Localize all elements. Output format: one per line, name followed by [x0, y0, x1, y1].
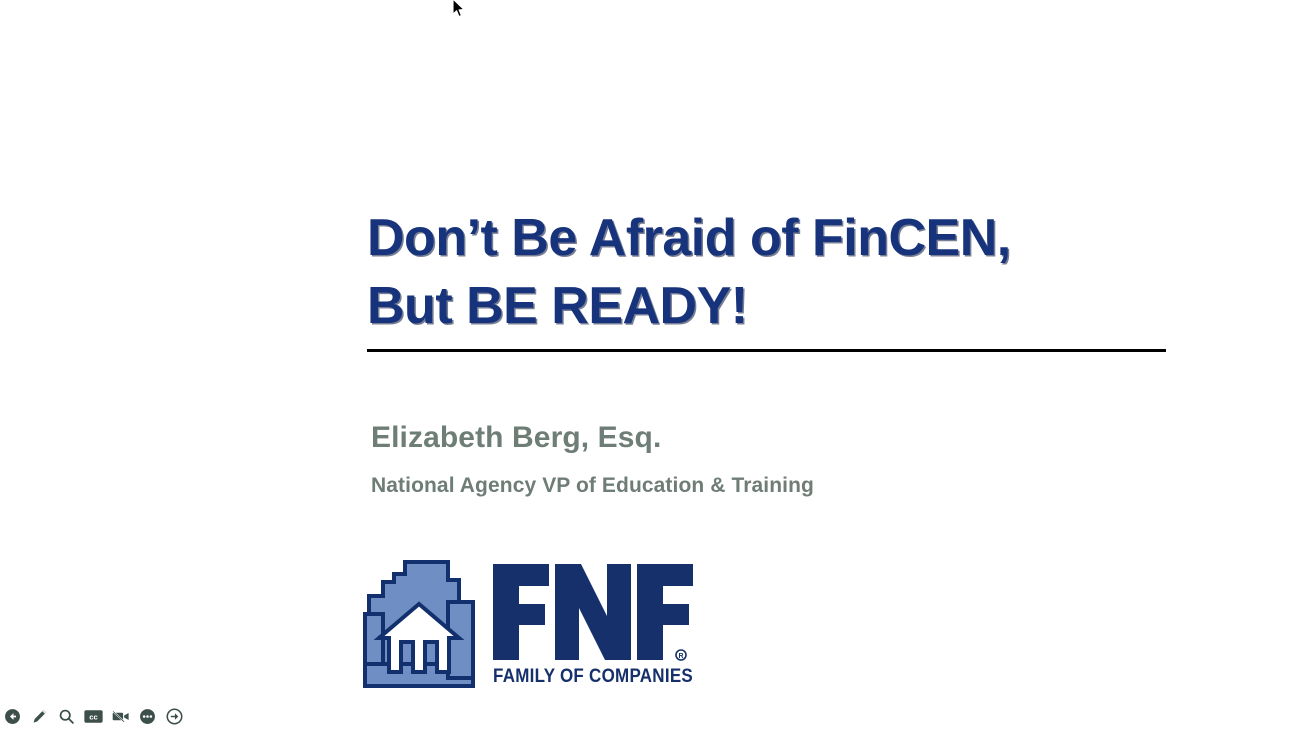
slide-canvas: Don’t Be Afraid of FinCEN, But BE READY!…	[0, 0, 1301, 729]
presenter-role: National Agency VP of Education & Traini…	[371, 470, 1071, 502]
player-toolbar: cc	[0, 703, 1301, 729]
presenter-block: Elizabeth Berg, Esq. National Agency VP …	[371, 418, 1071, 502]
more-options-icon[interactable]	[138, 707, 157, 726]
title-divider	[367, 349, 1166, 352]
presentation-viewer: Don’t Be Afraid of FinCEN, But BE READY!…	[0, 0, 1301, 729]
forward-arrow-icon[interactable]	[165, 707, 184, 726]
presenter-name: Elizabeth Berg, Esq.	[371, 418, 1071, 458]
svg-text:cc: cc	[89, 712, 98, 721]
fnf-logo: R FAMILY OF COMPANIES	[363, 560, 693, 692]
fnf-tagline: FAMILY OF COMPANIES	[493, 665, 693, 686]
fnf-wordmark: R FAMILY OF COMPANIES	[491, 560, 696, 691]
svg-text:R: R	[678, 653, 683, 660]
closed-captions-icon[interactable]: cc	[84, 707, 103, 726]
back-arrow-icon[interactable]	[3, 707, 22, 726]
page-title: Don’t Be Afraid of FinCEN, But BE READY!	[367, 204, 1177, 340]
pen-icon[interactable]	[30, 707, 49, 726]
video-off-icon[interactable]	[111, 707, 130, 726]
slide-title-block: Don’t Be Afraid of FinCEN, But BE READY!	[367, 204, 1177, 340]
search-icon[interactable]	[57, 707, 76, 726]
fnf-skyline-house-icon	[363, 560, 481, 693]
